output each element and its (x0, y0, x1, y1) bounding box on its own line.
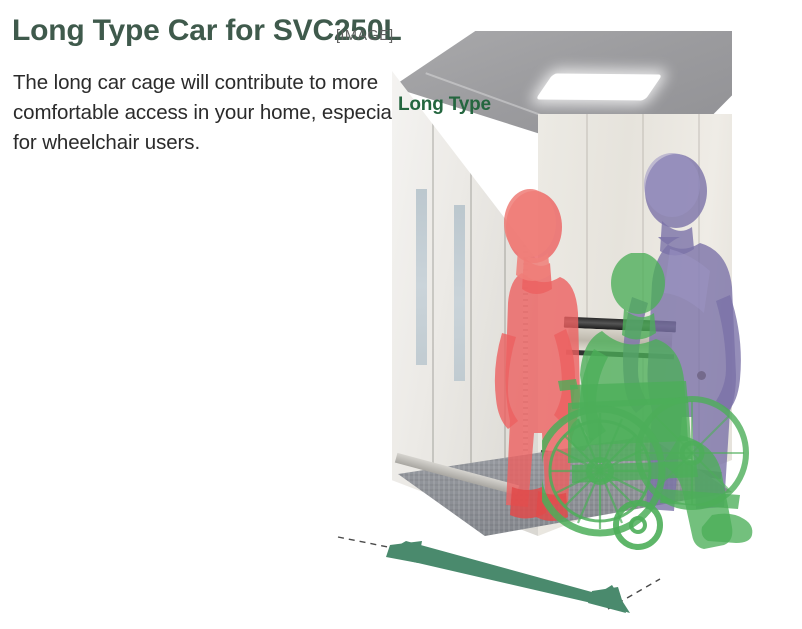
slide-root: { "header": { "title": "Long Type Car fo… (0, 0, 802, 601)
elevator-illustration: [IMAGE] Long Type (330, 28, 802, 601)
ceiling-light-fixture (535, 74, 662, 101)
image-placeholder-label: [IMAGE] (336, 28, 394, 44)
dimension-label: Long Type (398, 94, 491, 116)
double-arrow (386, 541, 630, 613)
leader-line-left (338, 537, 398, 549)
door-glass-strip (454, 205, 465, 381)
silhouette-wheelchair-user (542, 253, 764, 553)
door-glass-strip (416, 189, 427, 365)
dimension-arrow-graphic (330, 513, 802, 629)
